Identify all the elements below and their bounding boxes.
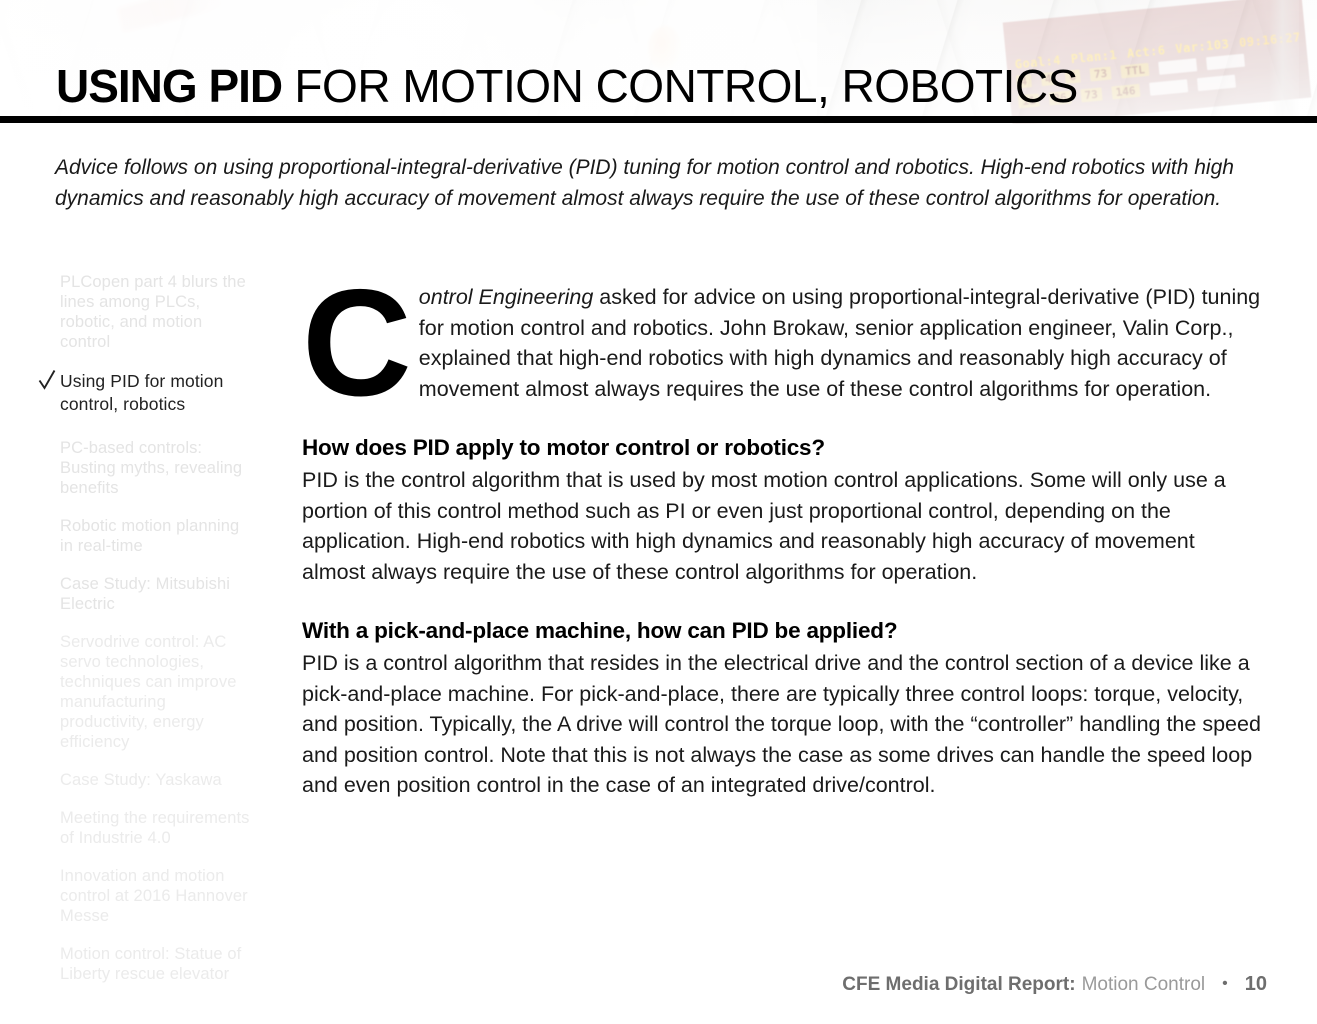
toc-item-industrie-40[interactable]: Meeting the requirements of Industrie 4.… xyxy=(40,808,255,848)
toc-item-label: PLCopen part 4 blurs the lines among PLC… xyxy=(60,273,246,351)
page-number: 10 xyxy=(1245,973,1267,996)
toc-item-label: Servodrive control: AC servo technologie… xyxy=(60,633,236,751)
qa-answer-2: PID is a control algorithm that resides … xyxy=(302,648,1264,801)
toc-item-robotic-motion-planning[interactable]: Robotic motion planning in real-time xyxy=(40,516,255,556)
page-title-strong: USING PID xyxy=(56,60,282,112)
article-deck: Advice follows on using proportional-int… xyxy=(55,152,1250,214)
toc-item-pc-based-controls[interactable]: PC-based controls: Busting myths, reveal… xyxy=(40,438,255,498)
page-title-rest: FOR MOTION CONTROL, ROBOTICS xyxy=(282,60,1078,112)
page-header: Goal:4 Plan:1 Act:6 Var:103 09:16:27 4 4… xyxy=(0,0,1317,124)
toc-item-case-study-mitsubishi[interactable]: Case Study: Mitsubishi Electric xyxy=(40,574,255,614)
qa-question-1: How does PID apply to motor control or r… xyxy=(302,434,1264,462)
qa-question-2: With a pick-and-place machine, how can P… xyxy=(302,617,1264,645)
toc-item-label: Motion control: Statue of Liberty rescue… xyxy=(60,945,241,983)
article-body: Control Engineering asked for advice on … xyxy=(302,282,1264,801)
toc-item-servodrive-control[interactable]: Servodrive control: AC servo technologie… xyxy=(40,632,255,752)
toc-item-using-pid[interactable]: Using PID for motion control, robotics xyxy=(40,370,255,416)
header-divider-rule xyxy=(0,116,1317,123)
toc-item-label: Using PID for motion control, robotics xyxy=(60,371,223,414)
lead-paragraph: Control Engineering asked for advice on … xyxy=(302,282,1264,404)
toc-item-label: Innovation and motion control at 2016 Ha… xyxy=(60,867,248,925)
toc-item-label: Meeting the requirements of Industrie 4.… xyxy=(60,809,250,847)
qa-answer-1: PID is the control algorithm that is use… xyxy=(302,465,1264,587)
toc-item-hannover-messe[interactable]: Innovation and motion control at 2016 Ha… xyxy=(40,866,255,926)
magazine-page: Goal:4 Plan:1 Act:6 Var:103 09:16:27 4 4… xyxy=(0,0,1317,1024)
toc-item-label: Case Study: Yaskawa xyxy=(60,771,222,789)
toc-item-case-study-yaskawa[interactable]: Case Study: Yaskawa xyxy=(40,770,255,790)
footer-brand: CFE Media Digital Report: xyxy=(842,974,1075,996)
drop-cap: C xyxy=(302,284,410,403)
page-footer: CFE Media Digital Report: Motion Control… xyxy=(842,973,1267,996)
toc-item-label: PC-based controls: Busting myths, reveal… xyxy=(60,439,242,497)
footer-separator-dot: • xyxy=(1222,975,1228,993)
toc-item-label: Case Study: Mitsubishi Electric xyxy=(60,575,230,613)
toc-item-statue-of-liberty[interactable]: Motion control: Statue of Liberty rescue… xyxy=(40,944,255,984)
page-title: USING PID FOR MOTION CONTROL, ROBOTICS xyxy=(56,63,1078,109)
table-of-contents[interactable]: PLCopen part 4 blurs the lines among PLC… xyxy=(40,272,255,1002)
lead-publication-name: ontrol Engineering xyxy=(419,285,594,309)
toc-item-label: Robotic motion planning in real-time xyxy=(60,517,239,555)
toc-item-plcopen[interactable]: PLCopen part 4 blurs the lines among PLC… xyxy=(40,272,255,352)
footer-subtitle: Motion Control xyxy=(1082,974,1206,996)
check-icon xyxy=(38,369,56,391)
